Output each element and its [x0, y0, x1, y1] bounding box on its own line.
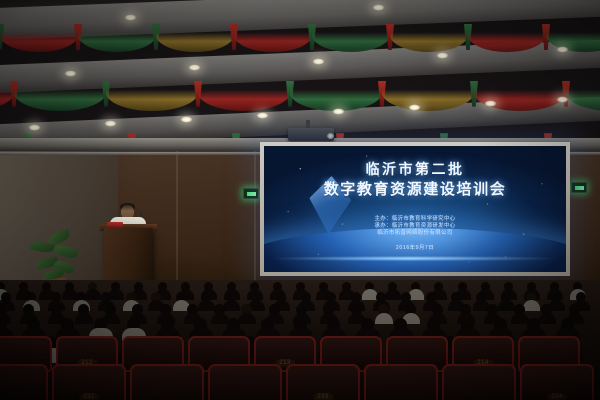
ceiling-downlight-icon: [408, 104, 421, 111]
audience-seat: [364, 364, 438, 400]
slide-organizers: 主办：临沂市教育科学研究中心 承办：临沂市教育资源研发中心 临沂市拓普网络股份有…: [374, 216, 455, 238]
audience-seat: [130, 364, 204, 400]
audience-seat: [442, 364, 516, 400]
audience-shoulders: [498, 300, 515, 311]
seat-number: 232: [79, 393, 99, 400]
potted-plant: [24, 212, 86, 290]
audience-seat: [0, 364, 48, 400]
slide-title-line2: 数字教育资源建设培训会: [324, 180, 507, 199]
slide-title-line1: 临沂市第二批: [366, 161, 465, 178]
ceiling-downlight-icon: [436, 52, 449, 59]
ceiling-downlight-icon: [188, 64, 201, 71]
organizer-line: 临沂市拓普网络股份有限公司: [374, 230, 455, 237]
wall-rail-right: [566, 152, 600, 155]
ceiling-downlight-icon: [556, 46, 569, 53]
seat-number: 234: [547, 393, 567, 400]
audience-area: 212213214232233234: [0, 280, 600, 400]
ceiling-downlight-icon: [28, 124, 41, 131]
audience-shoulders: [385, 289, 401, 300]
ceiling-downlight-icon: [104, 120, 117, 127]
audience-shoulders: [523, 300, 540, 311]
slide-date: 2016年9月7日: [396, 244, 434, 251]
audience-shoulders: [538, 313, 556, 324]
audience-shoulders: [238, 313, 256, 324]
audience-shoulders: [223, 300, 240, 311]
ceiling-downlight-icon: [256, 112, 269, 119]
audience-seat: 233: [286, 364, 360, 400]
ceiling-downlight-icon: [332, 108, 345, 115]
seat-number: 233: [313, 393, 333, 400]
exit-sign-right-icon: [571, 182, 587, 193]
audience-shoulders: [198, 300, 215, 311]
ceiling-downlight-icon: [372, 4, 385, 11]
ceiling-downlight-icon: [180, 116, 193, 123]
ceiling-downlight-icon: [124, 14, 137, 21]
projector-lens-icon: [327, 133, 334, 139]
slide-surface: 临沂市第二批 数字教育资源建设培训会 主办：临沂市教育科学研究中心 承办：临沂市…: [264, 146, 566, 272]
slide-content: 临沂市第二批 数字教育资源建设培训会 主办：临沂市教育科学研究中心 承办：临沂市…: [264, 146, 566, 272]
wall-panel-right: [566, 146, 600, 296]
wall-seam-2: [254, 148, 256, 294]
auditorium-photo: 临沂市第二批 数字教育资源建设培训会 主办：临沂市教育科学研究中心 承办：临沂市…: [0, 0, 600, 400]
audience-seat: 232: [52, 364, 126, 400]
wall-seam-1: [176, 150, 178, 292]
audience-shoulders: [85, 289, 101, 300]
projection-screen: 临沂市第二批 数字教育资源建设培训会 主办：临沂市教育科学研究中心 承办：临沂市…: [260, 142, 570, 276]
ceiling-downlight-icon: [312, 58, 325, 65]
ceiling-downlight-icon: [556, 96, 569, 103]
exit-sign-left-icon: [243, 188, 259, 199]
audience-shoulders: [75, 313, 93, 324]
audience-shoulders: [375, 313, 393, 324]
audience-seat: [208, 364, 282, 400]
ceiling-downlight-icon: [484, 100, 497, 107]
wall-rail-left: [0, 152, 262, 155]
audience-seat: 234: [520, 364, 594, 400]
ceiling-downlight-icon: [64, 70, 77, 77]
